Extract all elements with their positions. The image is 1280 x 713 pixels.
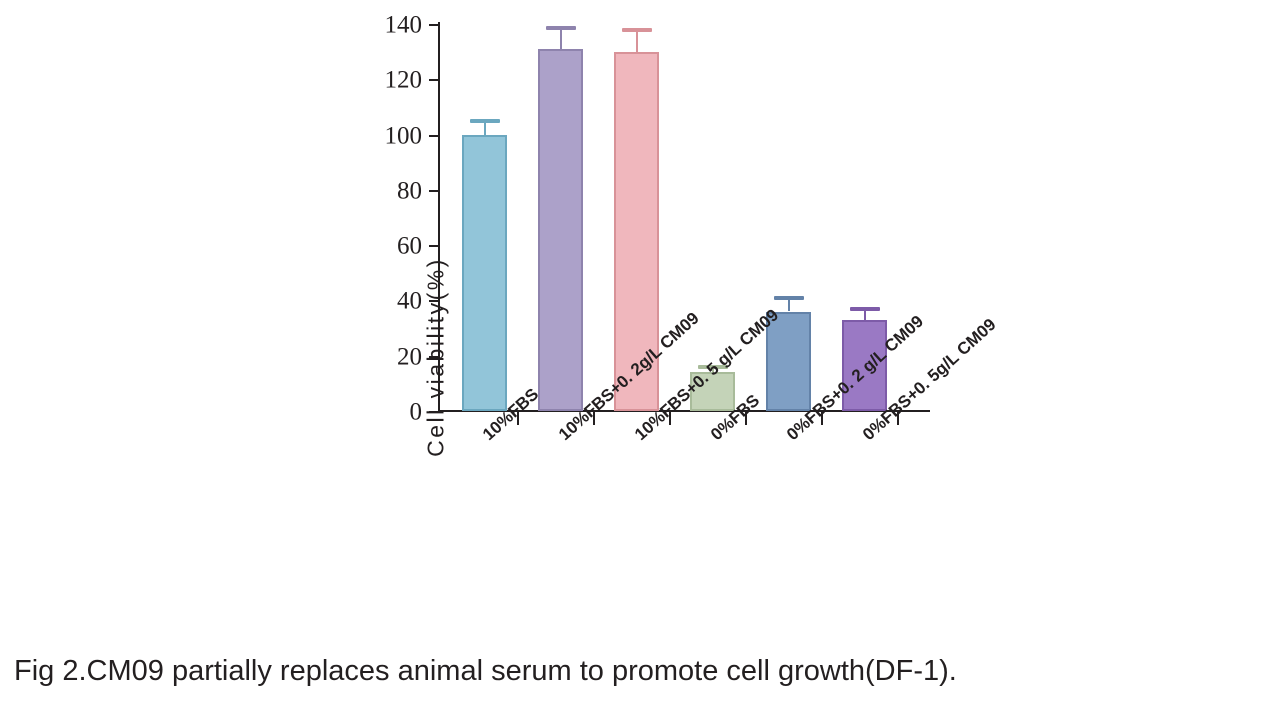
error-bar-stem [560, 28, 562, 49]
y-axis-tick-label: 20 [397, 344, 422, 369]
bar [462, 135, 507, 411]
y-axis-tick: 120 [429, 79, 438, 81]
y-axis-tick-label: 100 [385, 123, 423, 148]
error-bar-cap [774, 296, 804, 300]
y-axis-tick: 60 [429, 245, 438, 247]
y-axis-tick: 40 [429, 300, 438, 302]
y-axis-tick: 140 [429, 24, 438, 26]
bar [538, 49, 583, 411]
y-axis-tick: 100 [429, 135, 438, 137]
y-axis-tick-label: 120 [385, 68, 423, 93]
y-axis-tick: 0 [429, 411, 438, 413]
y-axis-tick: 20 [429, 356, 438, 358]
error-bar-stem [484, 121, 486, 135]
error-bar-cap [622, 28, 652, 32]
error-bar-cap [470, 119, 500, 123]
error-bar-stem [788, 298, 790, 312]
y-axis-tick-label: 60 [397, 234, 422, 259]
y-axis-tick-label: 0 [410, 400, 423, 425]
error-bar-cap [850, 307, 880, 311]
y-axis-tick: 80 [429, 190, 438, 192]
y-axis-tick-label: 40 [397, 289, 422, 314]
figure-caption: Fig 2.CM09 partially replaces animal ser… [14, 655, 1270, 688]
error-bar-stem [636, 30, 638, 52]
figure-container: Cell viability(%) 020406080100120140 10%… [0, 0, 1280, 713]
plot-area: 020406080100120140 [438, 24, 928, 411]
y-axis-tick-label: 140 [385, 13, 423, 38]
y-axis-tick-label: 80 [397, 178, 422, 203]
error-bar-cap [546, 26, 576, 30]
